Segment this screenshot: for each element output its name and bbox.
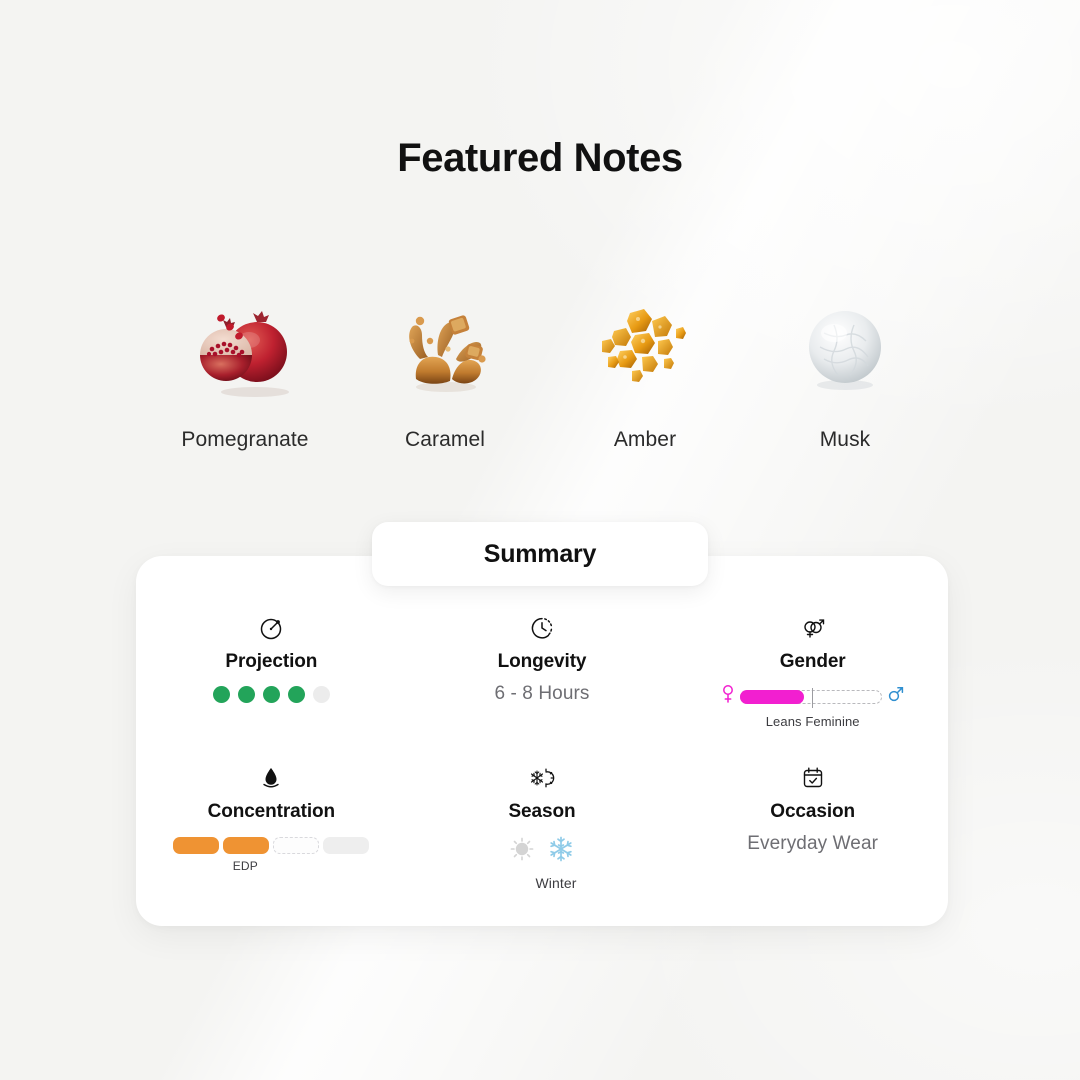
stat-longevity: Longevity 6 - 8 Hours [407,602,678,752]
season-selector[interactable]: Winter [509,835,575,891]
calendar-check-icon [801,764,825,792]
stat-title: Occasion [770,801,855,823]
gender-fill [740,690,804,704]
stat-title: Longevity [498,651,587,673]
stat-title: Season [508,801,575,823]
concentration-segments [173,837,369,854]
concentration-value: EDP [233,859,258,873]
concentration-segment [323,837,369,854]
gender-caption: Leans Feminine [766,714,860,729]
occasion-value: Everyday Wear [747,833,878,855]
stat-gender: Gender [677,602,948,752]
sun-icon[interactable] [509,836,535,867]
clock-icon [529,614,555,642]
gender-midpoint-tick [812,688,813,708]
projection-rating-dots [213,686,330,703]
amber-resin-icon [586,288,704,406]
stat-title: Concentration [208,801,335,823]
droplet-icon [259,764,283,792]
stat-season: Season [407,752,678,902]
caramel-splash-icon [386,288,504,406]
concentration-segment [173,837,219,854]
projection-dot [238,686,255,703]
note-label: Amber [614,428,676,452]
gender-slider-bar[interactable] [722,684,904,709]
stat-occasion: Occasion Everyday Wear [677,752,948,902]
note-item-pomegranate[interactable]: Pomegranate [150,288,340,452]
note-item-musk[interactable]: Musk [750,288,940,452]
page-title: Featured Notes [0,136,1080,181]
projection-dot [263,686,280,703]
mars-icon [888,685,904,708]
gauge-icon [258,614,284,642]
projection-dot [213,686,230,703]
summary-stats-grid: Projection Longevity 6 - 8 Hours [136,602,948,902]
longevity-value: 6 - 8 Hours [494,683,589,705]
concentration-segment [273,837,319,854]
summary-title: Summary [484,540,597,569]
note-item-caramel[interactable]: Caramel [350,288,540,452]
musk-ball-icon [786,288,904,406]
venus-icon [722,684,734,709]
page-root: Featured Notes [0,0,1080,1080]
projection-dot [313,686,330,703]
note-label: Musk [820,428,871,452]
summary-title-pill: Summary [372,522,708,586]
season-caption: Winter [535,875,576,891]
sun-snow-icon [529,764,555,792]
stat-projection: Projection [136,602,407,752]
note-label: Caramel [405,428,485,452]
pomegranate-icon [186,288,304,406]
gender-track[interactable] [740,690,882,704]
season-options [509,835,575,868]
note-label: Pomegranate [181,428,308,452]
stat-title: Projection [225,651,317,673]
concentration-meter[interactable]: EDP [173,837,369,873]
stat-title: Gender [780,651,846,673]
gender-slider[interactable]: Leans Feminine [722,684,904,729]
stat-concentration: Concentration EDP [136,752,407,902]
gender-symbols-icon [799,614,827,642]
concentration-segment [223,837,269,854]
snowflake-icon[interactable] [547,835,575,868]
note-item-amber[interactable]: Amber [550,288,740,452]
projection-dot [288,686,305,703]
featured-notes-row: Pomegranate [150,288,940,452]
